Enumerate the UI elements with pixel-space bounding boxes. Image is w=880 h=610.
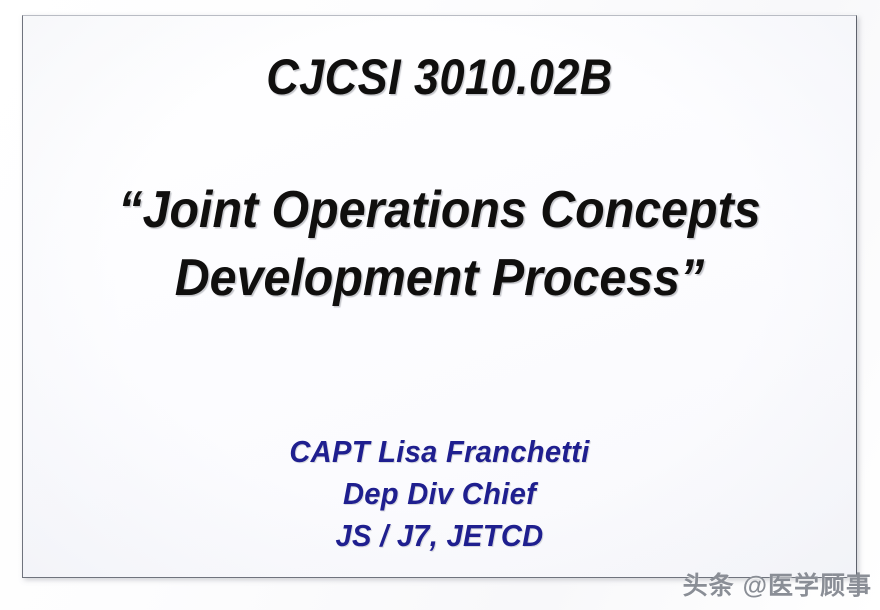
- presenter-title: Dep Div Chief: [48, 473, 831, 515]
- presenter-organization: JS / J7, JETCD: [48, 515, 831, 557]
- presentation-slide: CJCSI 3010.02B “Joint Operations Concept…: [22, 15, 857, 578]
- headline-line-2: Development Process”: [52, 244, 827, 312]
- slide-headline: “Joint Operations Concepts Development P…: [52, 176, 827, 312]
- slide-content: CJCSI 3010.02B “Joint Operations Concept…: [23, 16, 856, 577]
- presenter-byline: CAPT Lisa Franchetti Dep Div Chief JS / …: [48, 431, 831, 557]
- headline-line-1: “Joint Operations Concepts: [52, 176, 827, 244]
- presenter-name: CAPT Lisa Franchetti: [48, 431, 831, 473]
- source-watermark: 头条 @医学顾事: [683, 566, 872, 602]
- scan-canvas: CJCSI 3010.02B “Joint Operations Concept…: [0, 0, 880, 610]
- document-id-title: CJCSI 3010.02B: [65, 48, 815, 106]
